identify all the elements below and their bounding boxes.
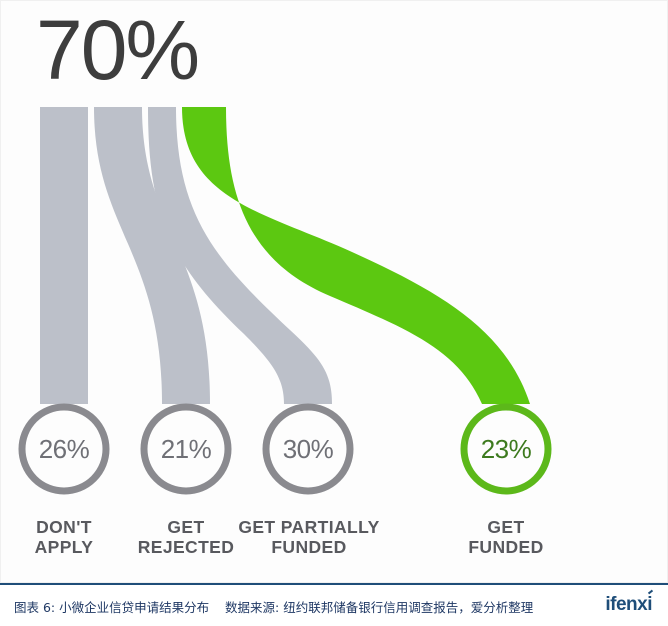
ifenxi-logo-tail: i bbox=[647, 594, 652, 616]
node-caption-get-funded: GET FUNDED bbox=[444, 518, 568, 557]
footer-bar: 图表 6: 小微企业信贷申请结果分布 数据来源: 纽约联邦储备银行信用调查报告，… bbox=[0, 583, 668, 626]
node-caption-get-rejected: GET REJECTED bbox=[118, 518, 254, 557]
flow-band-get-funded bbox=[182, 107, 530, 404]
node-caption-get-partially-funded: GET PARTIALLY FUNDED bbox=[236, 518, 382, 557]
footer-source-text: 图表 6: 小微企业信贷申请结果分布 数据来源: 纽约联邦储备银行信用调查报告，… bbox=[14, 597, 533, 616]
node-value-dont-apply: 26% bbox=[14, 434, 114, 465]
node-caption-dont-apply: DON'T APPLY bbox=[4, 518, 124, 557]
node-value-get-rejected: 21% bbox=[136, 434, 236, 465]
sankey-flow-diagram bbox=[0, 0, 668, 583]
ifenxi-logo-main: ifenx bbox=[605, 594, 647, 615]
node-value-get-funded: 23% bbox=[456, 434, 556, 465]
ifenxi-logo: ifenxi bbox=[605, 594, 652, 616]
flow-band-dont-apply bbox=[40, 107, 88, 404]
node-value-get-partially-funded: 30% bbox=[258, 434, 358, 465]
infographic-canvas: 70% 26% 21% 30% 23% DON'T APPLY GET REJE… bbox=[0, 0, 668, 626]
